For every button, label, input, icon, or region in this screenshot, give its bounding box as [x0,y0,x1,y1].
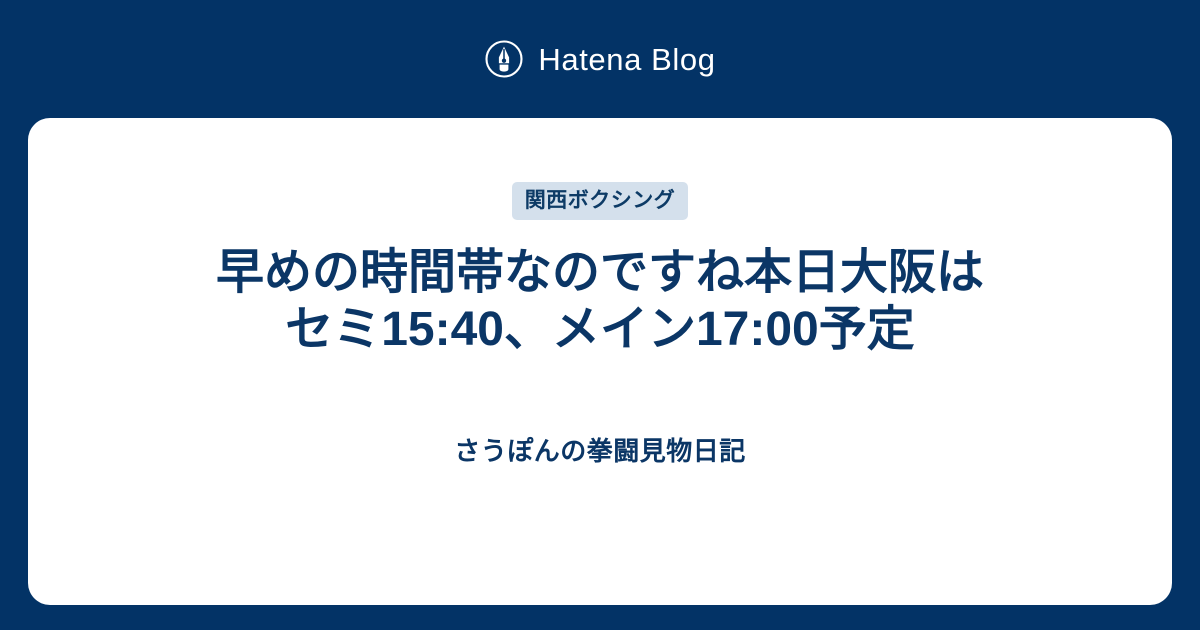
entry-card: 関西ボクシング 早めの時間帯なのですね本日大阪はセミ15:40、メイン17:00… [28,118,1172,605]
ogp-card-canvas: Hatena Blog 関西ボクシング 早めの時間帯なのですね本日大阪はセミ15… [0,0,1200,630]
blog-name[interactable]: さうぽんの拳闘見物日記 [454,436,746,467]
hatena-blog-brand-bar: Hatena Blog [0,0,1200,118]
hatena-pen-nib-icon [484,39,524,79]
category-badge[interactable]: 関西ボクシング [512,182,689,220]
hatena-blog-wordmark: Hatena Blog [538,44,715,75]
entry-title: 早めの時間帯なのですね本日大阪はセミ15:40、メイン17:00予定 [200,244,1000,358]
entry-card-inner: 関西ボクシング 早めの時間帯なのですね本日大阪はセミ15:40、メイン17:00… [28,118,1172,467]
